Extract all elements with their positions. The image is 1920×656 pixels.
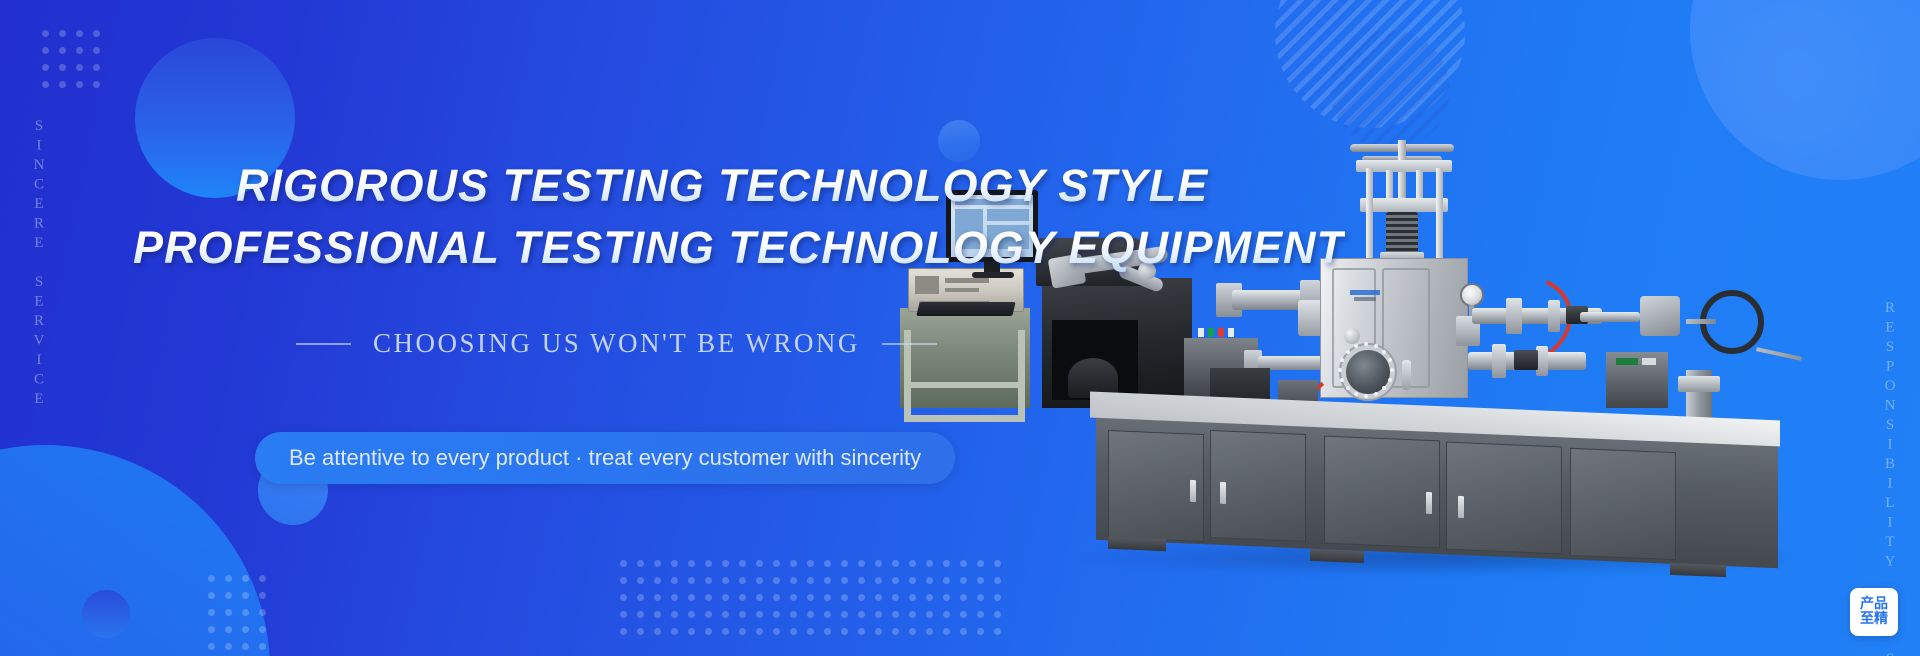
right-flange-1 [1506,298,1522,334]
indicator-led-red [1218,328,1224,337]
tower-plate-lower [1360,198,1448,212]
badge-char-1: 产 [1860,597,1874,612]
indicator-led-white-2 [1228,328,1234,337]
cabinet-handle-2 [1220,482,1226,504]
right-shaft-dark-segment-2 [1514,350,1538,370]
right-flange-2 [1548,300,1560,332]
cabinet-foot-3 [1670,563,1726,577]
indicator-led-white [1198,328,1204,337]
chamber-handle [1402,360,1411,390]
support-post-flange [1678,376,1720,392]
shaft-clamp [1640,296,1680,336]
slogan-pill[interactable]: Be attentive to every product · treat ev… [255,432,955,484]
badge-characters: 产 品 至 精 [1860,597,1888,626]
headline-line-1: RIGOROUS TESTING TECHNOLOGY STYLE [236,160,1208,212]
badge-char-4: 精 [1874,612,1888,627]
subtitle-row: CHOOSING US WON'T BE WRONG [296,328,976,359]
tower-rod-right [1436,168,1443,260]
cabinet-handle-4 [1458,496,1464,518]
headline-line-2: PROFESSIONAL TESTING TECHNOLOGY EQUIPMEN… [133,222,1345,274]
right-shaft-extension [1580,312,1640,322]
hand-wheel-rod [1756,347,1802,360]
quality-badge[interactable]: 产 品 至 精 [1850,588,1898,636]
banner-copy: RIGOROUS TESTING TECHNOLOGY STYLE PROFES… [0,0,1180,656]
right-flange-3 [1492,344,1506,378]
badge-char-2: 品 [1874,597,1888,612]
hand-wheel-spoke [1686,319,1716,324]
right-panel-led-green [1616,358,1638,365]
dash-left [296,343,351,345]
chamber-knob [1344,328,1360,344]
cabinet-handle-1 [1190,480,1196,502]
hero-banner: SINCERE SERVICE RESPONSIBILITY IS SUPREM… [0,0,1920,656]
chamber-brand-logo [1350,290,1380,302]
cabinet-handle-3 [1426,492,1432,514]
right-panel-led-white [1642,358,1656,365]
dash-right [882,343,937,345]
cabinet-door-5 [1570,448,1676,560]
indicator-led-green [1208,328,1214,337]
badge-char-3: 至 [1860,612,1874,627]
subtitle-text: CHOOSING US WON'T BE WRONG [373,328,860,359]
cabinet-foot-2 [1310,549,1364,563]
cabinet-door-3 [1324,436,1440,549]
tower-rod-left [1366,168,1373,260]
